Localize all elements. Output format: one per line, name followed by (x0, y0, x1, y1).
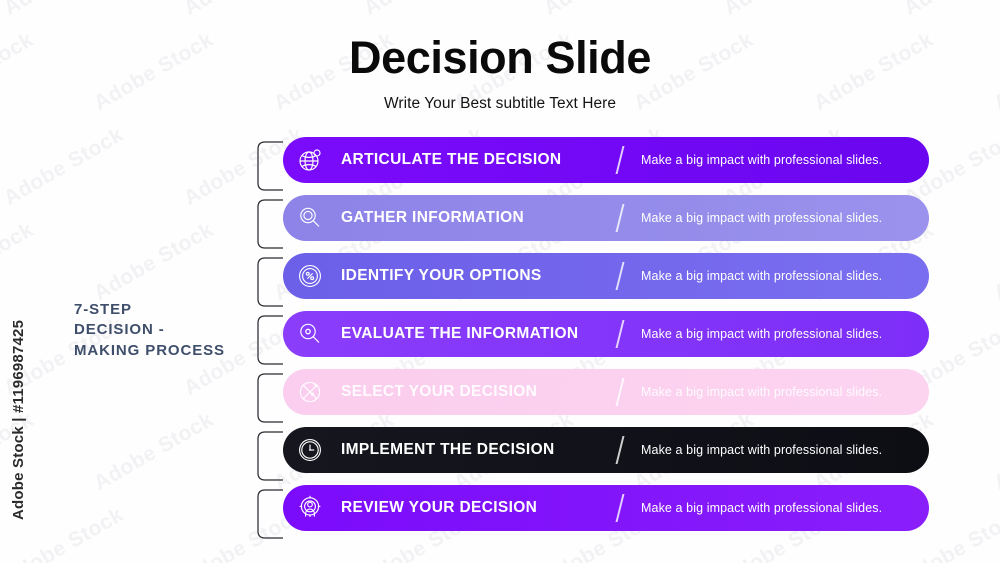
step-row[interactable]: GATHER INFORMATIONMake a big impact with… (283, 195, 929, 241)
slash-divider (616, 378, 625, 406)
step-description: Make a big impact with professional slid… (641, 501, 882, 515)
step-title: IMPLEMENT THE DECISION (341, 441, 555, 459)
slide-canvas: Adobe StockAdobe StockAdobe StockAdobe S… (0, 0, 1000, 563)
slash-divider (616, 436, 625, 464)
step-description: Make a big impact with professional slid… (641, 153, 882, 167)
step-description: Make a big impact with professional slid… (641, 211, 882, 225)
step-row[interactable]: IDENTIFY YOUR OPTIONSMake a big impact w… (283, 253, 929, 299)
magnifier-at-icon (295, 319, 325, 349)
slash-divider (616, 320, 625, 348)
step-description: Make a big impact with professional slid… (641, 443, 882, 457)
step-description: Make a big impact with professional slid… (641, 385, 882, 399)
slash-divider (616, 494, 625, 522)
slash-divider (616, 204, 625, 232)
step-title: EVALUATE THE INFORMATION (341, 325, 578, 343)
step-description: Make a big impact with professional slid… (641, 327, 882, 341)
clock-icon (295, 435, 325, 465)
step-row[interactable]: SELECT YOUR DECISIONMake a big impact wi… (283, 369, 929, 415)
stock-watermark-label: Adobe Stock | #1196987425 (10, 320, 27, 520)
step-row[interactable]: REVIEW YOUR DECISIONMake a big impact wi… (283, 485, 929, 531)
step-title: SELECT YOUR DECISION (341, 383, 537, 401)
globe-icon (295, 145, 325, 175)
step-row[interactable]: EVALUATE THE INFORMATIONMake a big impac… (283, 311, 929, 357)
step-description: Make a big impact with professional slid… (641, 269, 882, 283)
magnifier-icon (295, 203, 325, 233)
step-row[interactable]: ARTICULATE THE DECISIONMake a big impact… (283, 137, 929, 183)
slash-divider (616, 146, 625, 174)
person-target-icon (295, 493, 325, 523)
percent-circle-icon (295, 261, 325, 291)
step-title: REVIEW YOUR DECISION (341, 499, 537, 517)
slash-divider (616, 262, 625, 290)
pie-target-icon (295, 377, 325, 407)
step-row[interactable]: IMPLEMENT THE DECISIONMake a big impact … (283, 427, 929, 473)
step-title: IDENTIFY YOUR OPTIONS (341, 267, 542, 285)
step-title: ARTICULATE THE DECISION (341, 151, 561, 169)
step-title: GATHER INFORMATION (341, 209, 524, 227)
step-list: ARTICULATE THE DECISIONMake a big impact… (0, 0, 1000, 563)
